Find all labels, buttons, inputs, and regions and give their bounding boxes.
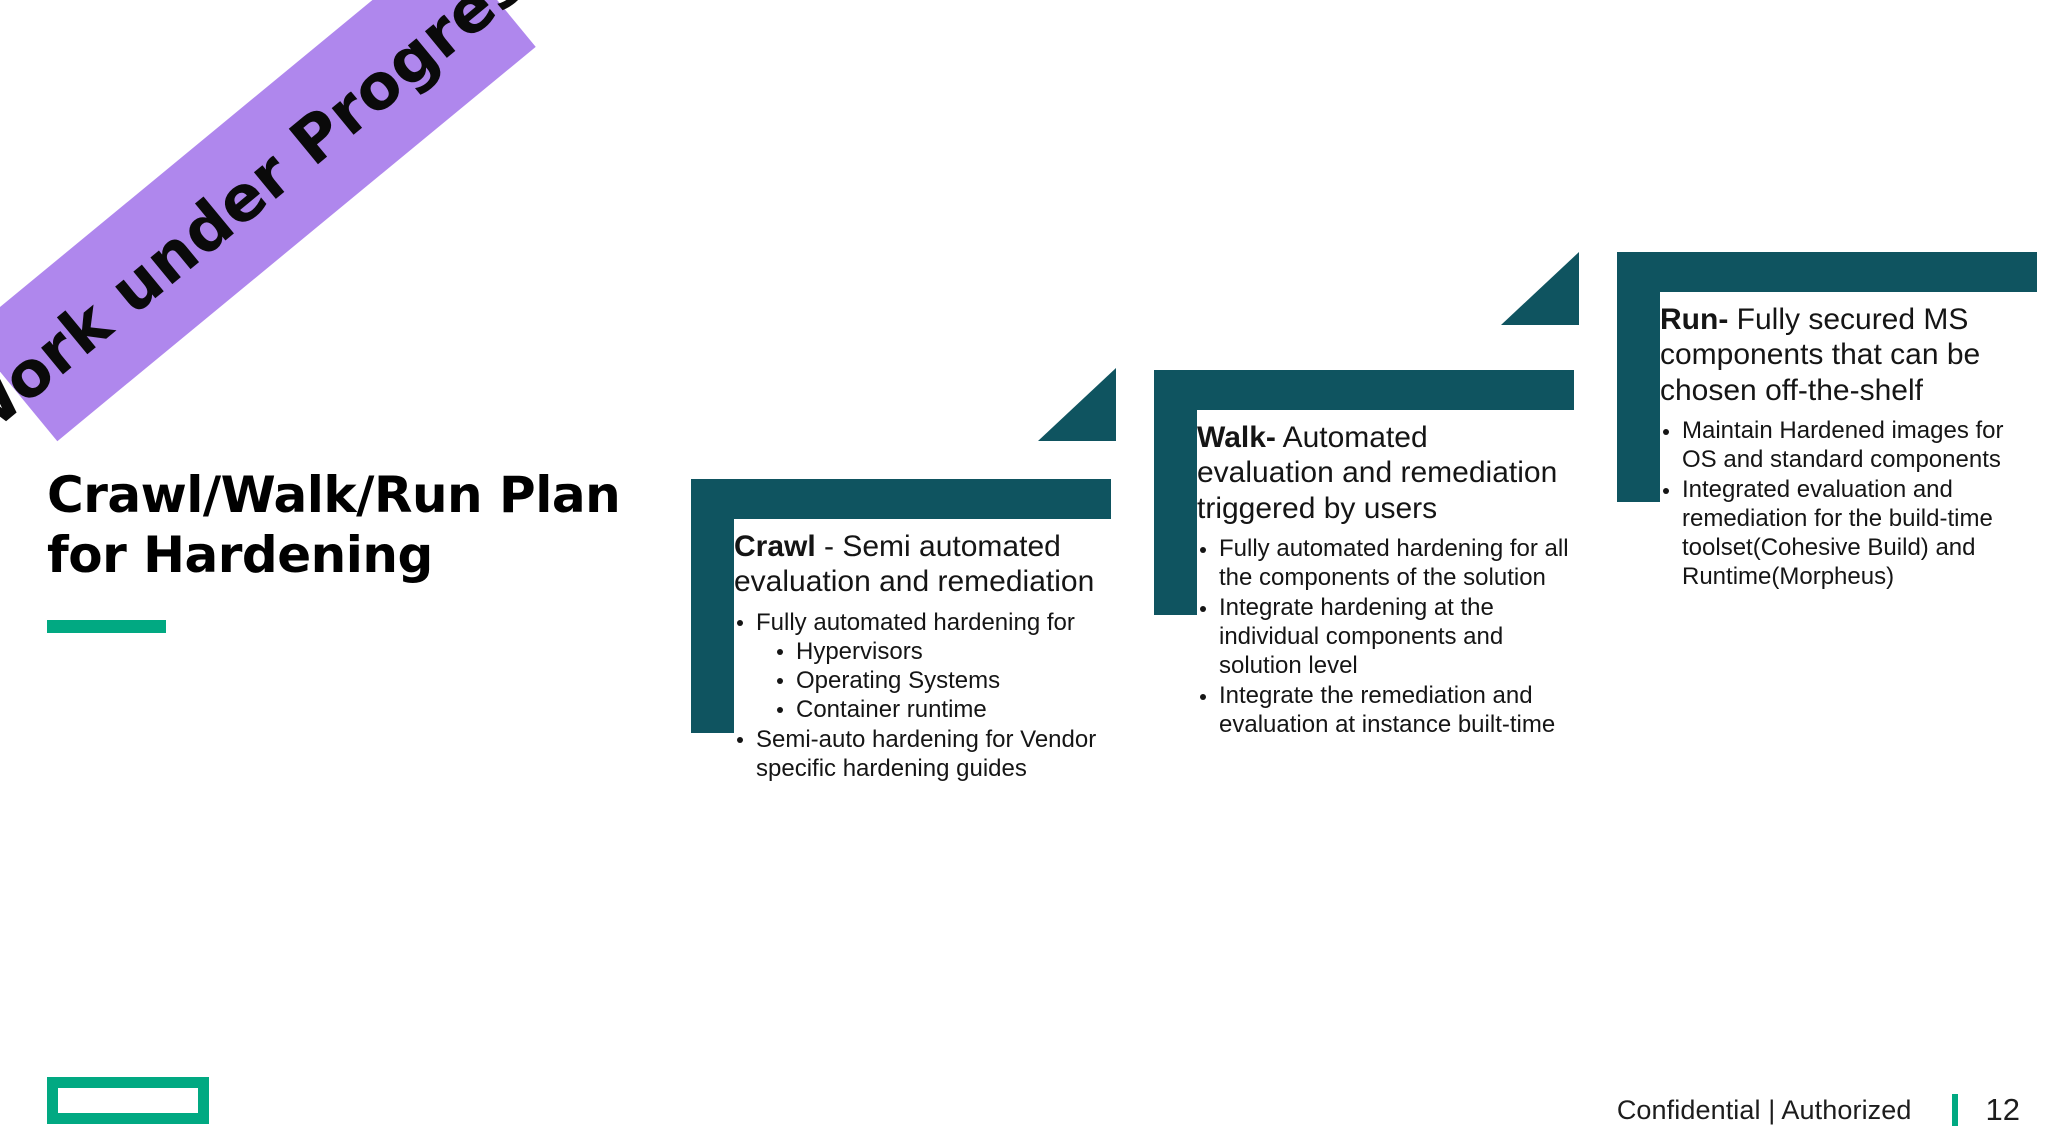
card-frame-left-run [1617, 252, 1660, 502]
card-frame-top-run [1617, 252, 2037, 292]
bullet-dot-icon [737, 620, 743, 626]
list-item: Maintain Hardened images for OS and stan… [1660, 416, 2032, 474]
bullet-dot-icon [1200, 694, 1206, 700]
title-accent-bar [47, 620, 166, 633]
card-body-crawl: Crawl - Semi automated evaluation and re… [734, 519, 1106, 784]
card-sublist-crawl: Hypervisors Operating Systems Container … [756, 637, 1106, 724]
list-item: Integrated evaluation and remediation fo… [1660, 475, 2032, 591]
bullet-dot-icon [1663, 429, 1669, 435]
card-heading-crawl: Crawl - Semi automated evaluation and re… [734, 529, 1106, 600]
slide-canvas: Work under Progress Crawl/Walk/Run Plan … [0, 0, 2050, 1141]
footer-divider [1952, 1094, 1958, 1126]
card-list-walk: Fully automated hardening for all the co… [1197, 534, 1569, 739]
list-item: Container runtime [774, 695, 1106, 724]
list-item: Fully automated hardening for Hypervisor… [734, 608, 1106, 724]
footer-page-number: 12 [1986, 1092, 2020, 1128]
list-item-text: Integrated evaluation and remediation fo… [1682, 476, 1993, 590]
bullet-dot-icon [737, 737, 743, 743]
list-item-text: Fully automated hardening for all the co… [1219, 535, 1569, 591]
card-frame-left-walk [1154, 370, 1197, 615]
card-frame-top-crawl [691, 479, 1111, 519]
list-item-text: Integrate hardening at the individual co… [1219, 594, 1503, 679]
card-list-crawl: Fully automated hardening for Hypervisor… [734, 608, 1106, 783]
bullet-dot-icon [777, 707, 783, 713]
connector-triangle-walk-to-run [1501, 252, 1579, 325]
list-item: Fully automated hardening for all the co… [1197, 534, 1569, 592]
hpe-logo [47, 1077, 209, 1124]
list-item-text: Semi-auto hardening for Vendor specific … [756, 726, 1096, 782]
card-frame-left-crawl [691, 479, 734, 733]
list-item: Hypervisors [774, 637, 1106, 666]
list-item-text: Container runtime [796, 696, 987, 723]
card-frame-top-walk [1154, 370, 1574, 410]
list-item-text: Operating Systems [796, 667, 1000, 694]
card-heading-strong-walk: Walk- [1197, 421, 1276, 454]
list-item: Semi-auto hardening for Vendor specific … [734, 725, 1106, 783]
work-under-progress-banner: Work under Progress [0, 0, 536, 441]
list-item: Operating Systems [774, 666, 1106, 695]
card-heading-strong-run: Run- [1660, 303, 1728, 336]
bullet-dot-icon [1200, 606, 1206, 612]
bullet-dot-icon [777, 678, 783, 684]
work-under-progress-label: Work under Progress [0, 0, 568, 460]
bullet-dot-icon [777, 649, 783, 655]
slide-footer: Confidential | Authorized 12 [1617, 1092, 2020, 1128]
card-list-run: Maintain Hardened images for OS and stan… [1660, 416, 2032, 591]
card-heading-run: Run- Fully secured MS components that ca… [1660, 302, 2032, 408]
list-item-text: Integrate the remediation and evaluation… [1219, 682, 1555, 738]
card-body-run: Run- Fully secured MS components that ca… [1660, 292, 2032, 592]
page-title: Crawl/Walk/Run Plan for Hardening [47, 466, 647, 585]
list-item-text: Maintain Hardened images for OS and stan… [1682, 417, 2004, 473]
list-item-text: Hypervisors [796, 638, 923, 665]
card-heading-walk: Walk- Automated evaluation and remediati… [1197, 420, 1569, 526]
list-item: Integrate the remediation and evaluation… [1197, 681, 1569, 739]
footer-confidentiality-label: Confidential | Authorized [1617, 1095, 1912, 1126]
list-item-text: Fully automated hardening for [756, 609, 1075, 636]
card-heading-strong-crawl: Crawl [734, 530, 816, 563]
card-body-walk: Walk- Automated evaluation and remediati… [1197, 410, 1569, 740]
list-item: Integrate hardening at the individual co… [1197, 593, 1569, 680]
bullet-dot-icon [1663, 488, 1669, 494]
bullet-dot-icon [1200, 547, 1206, 553]
connector-triangle-crawl-to-walk [1038, 368, 1116, 441]
